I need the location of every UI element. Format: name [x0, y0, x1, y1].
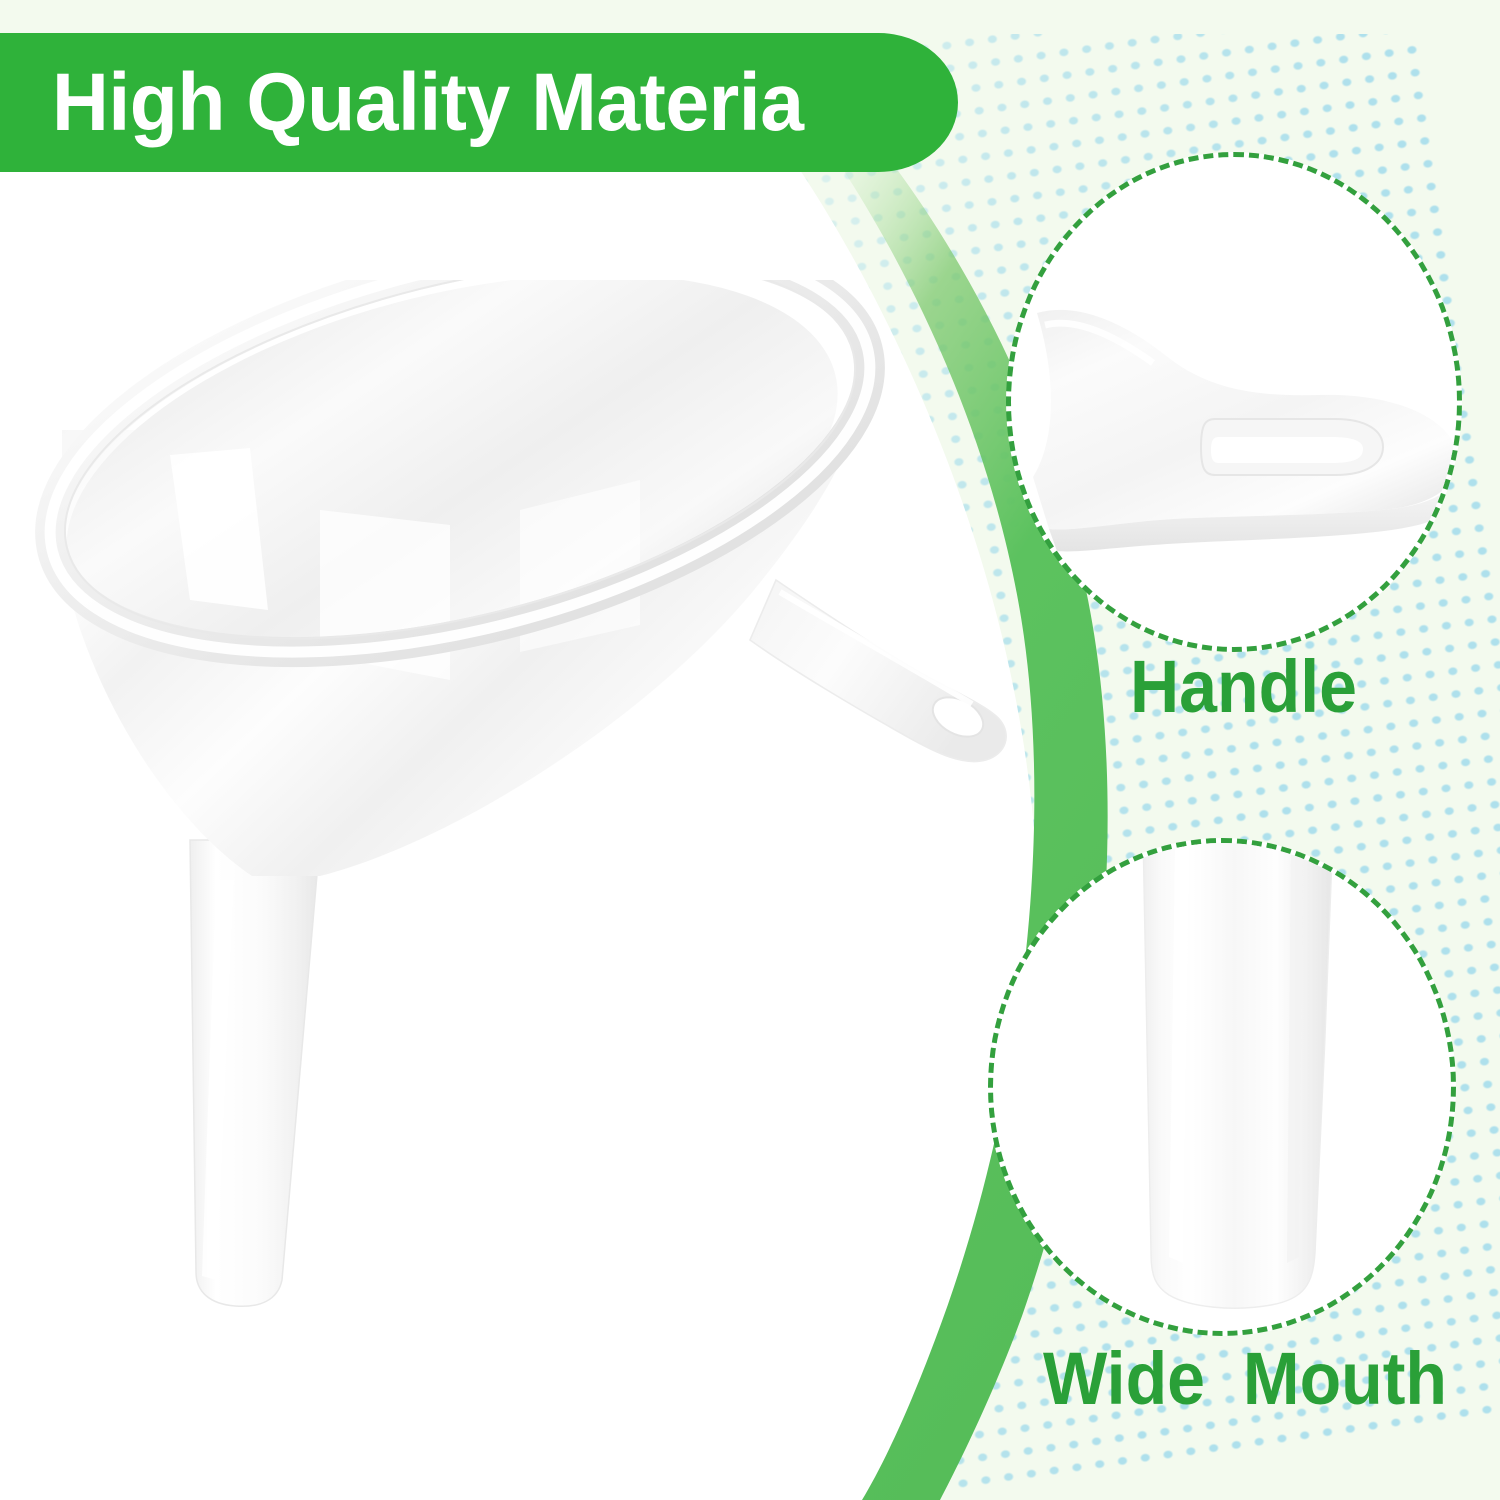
handle-grip-hole [1211, 437, 1363, 463]
wide-mouth-detail-icon [1123, 838, 1353, 1336]
funnel-product-image [20, 280, 1030, 1310]
handle-detail-icon [1019, 277, 1462, 567]
wide-mouth-callout-circle [988, 838, 1456, 1336]
headline-text: High Quality Materia [52, 62, 804, 144]
wide-mouth-callout-label: Wide Mouth [1043, 1342, 1447, 1416]
top-mint-strip [0, 0, 1500, 34]
headline-banner: High Quality Materia [0, 33, 958, 172]
handle-callout-label: Handle [1130, 650, 1357, 724]
infographic-canvas: High Quality Materia [0, 0, 1500, 1500]
handle-callout-circle [1006, 152, 1462, 652]
